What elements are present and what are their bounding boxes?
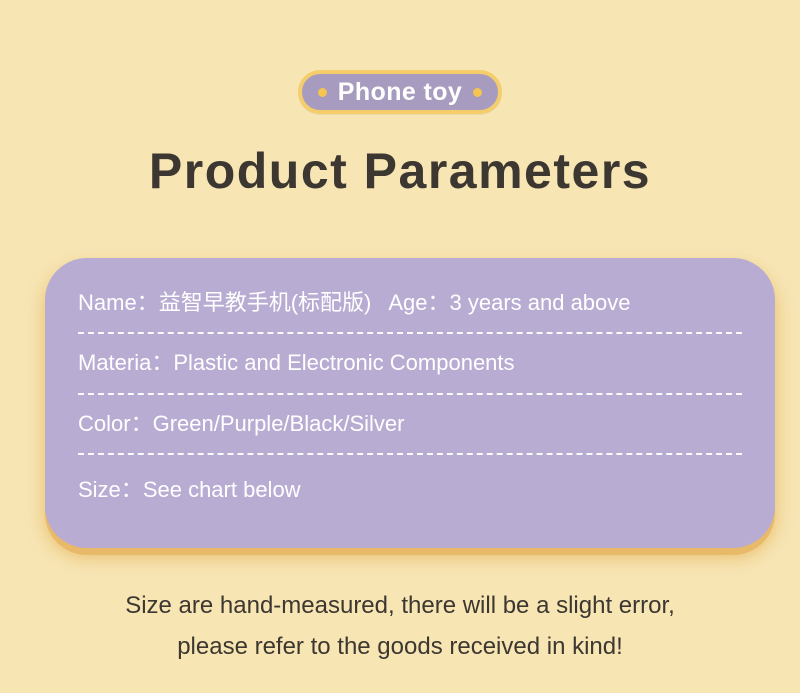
param-row-materia: Materia： Plastic and Electronic Componen… (78, 344, 742, 375)
param-label-age: Age： (388, 290, 449, 315)
phone-toy-badge: Phone toy (298, 70, 502, 114)
param-row-materia-block: Materia： Plastic and Electronic Componen… (78, 334, 742, 394)
param-row-name-age-block: Name： 益智早教手机(标配版) Age： 3 years and above (78, 284, 742, 334)
param-row-name-age: Name： 益智早教手机(标配版) Age： 3 years and above (78, 284, 742, 315)
param-value-name: 益智早教手机(标配版) (159, 290, 372, 315)
footer-line-1: Size are hand-measured, there will be a … (0, 585, 800, 626)
param-row-size: Size： See chart below (78, 471, 742, 502)
param-label-color: Color： (78, 411, 153, 436)
row-divider-3 (78, 453, 742, 455)
param-label-name: Name： (78, 290, 159, 315)
bullet-dot-icon-left (318, 88, 327, 97)
param-label-materia: Materia： (78, 350, 173, 375)
param-row-size-block: Size： See chart below (78, 455, 742, 502)
footer-note: Size are hand-measured, there will be a … (0, 585, 800, 668)
param-value-color: Green/Purple/Black/Silver (153, 411, 405, 436)
bullet-dot-icon-right (473, 88, 482, 97)
badge-label: Phone toy (338, 80, 462, 105)
footer-line-2: please refer to the goods received in ki… (0, 626, 800, 667)
product-parameters-card: Name： 益智早教手机(标配版) Age： 3 years and above… (45, 258, 775, 548)
row-divider-2 (78, 393, 742, 395)
row-divider-1 (78, 332, 742, 334)
badge-container: Phone toy (0, 70, 800, 114)
param-row-color-block: Color： Green/Purple/Black/Silver (78, 395, 742, 455)
param-value-materia: Plastic and Electronic Components (173, 350, 514, 375)
param-value-size: See chart below (143, 477, 301, 502)
param-row-color: Color： Green/Purple/Black/Silver (78, 405, 742, 436)
page-title: Product Parameters (0, 143, 800, 201)
param-value-age: 3 years and above (450, 290, 631, 315)
param-label-size: Size： (78, 477, 143, 502)
